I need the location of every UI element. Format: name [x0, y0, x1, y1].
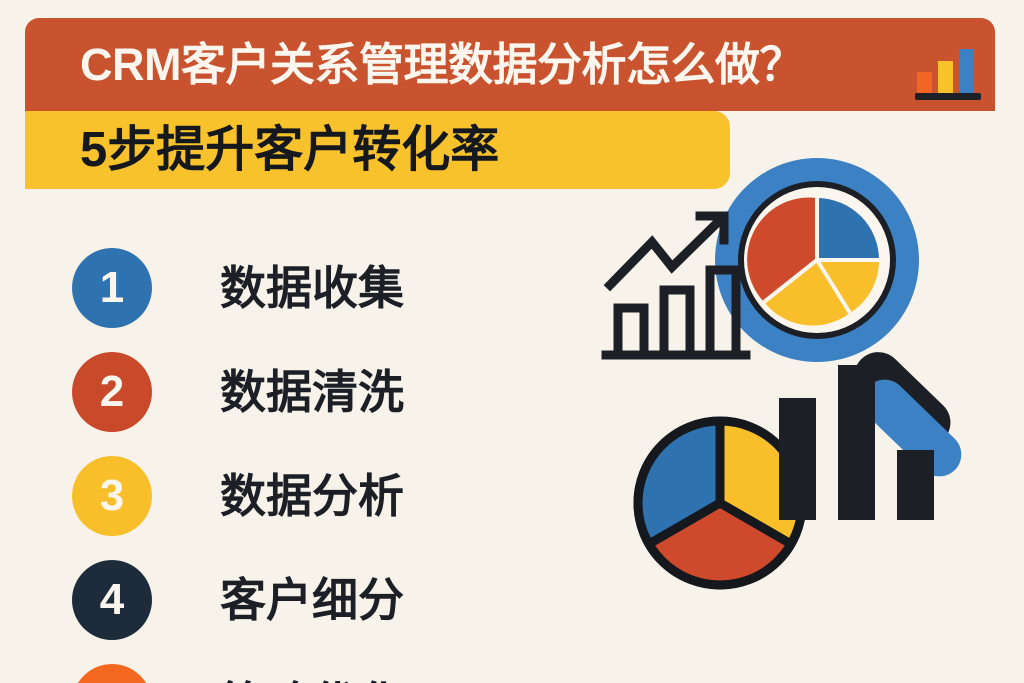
mini-bar-2 — [938, 61, 953, 94]
mini-bar-1 — [917, 72, 932, 94]
pie-chart-icon — [638, 421, 802, 585]
step-number: 4 — [100, 578, 124, 622]
list-item: 2 数据清洗 — [72, 340, 404, 444]
growth-trend-line — [610, 220, 720, 285]
growth-bar-1 — [618, 308, 644, 355]
step-number-badge: 2 — [72, 352, 152, 432]
list-item: 3 数据分析 — [72, 444, 404, 548]
list-item: 4 客户细分 — [72, 548, 404, 652]
step-number-badge: 4 — [72, 560, 152, 640]
step-label: 数据收集 — [220, 265, 404, 311]
steps-list: 1 数据收集 2 数据清洗 3 数据分析 4 客户细分 5 策 — [72, 236, 404, 683]
dark-bar-1 — [779, 398, 816, 520]
page-subtitle: 5步提升客户转化率 — [80, 126, 499, 175]
step-number-badge: 5 — [72, 664, 152, 683]
step-number: 3 — [100, 474, 124, 518]
header-title-banner: CRM客户关系管理数据分析怎么做？ — [25, 18, 995, 111]
mini-bar-baseline — [915, 93, 981, 100]
step-number: 1 — [100, 266, 124, 310]
bar-chart-icon — [915, 52, 983, 100]
list-item: 5 策略优化 — [72, 652, 404, 683]
illustration-svg — [560, 130, 1024, 683]
page-title: CRM客户关系管理数据分析怎么做？ — [80, 42, 804, 87]
infographic-poster: CRM客户关系管理数据分析怎么做？ 5步提升客户转化率 1 数据收集 2 数据清… — [0, 0, 1024, 683]
step-label: 客户细分 — [220, 577, 404, 623]
list-item: 1 数据收集 — [72, 236, 404, 340]
illustration-group — [560, 130, 1024, 683]
dark-bar-2 — [838, 365, 875, 520]
mini-bar-3 — [959, 49, 974, 94]
step-label: 数据清洗 — [220, 369, 404, 415]
step-label: 数据分析 — [220, 473, 404, 519]
step-number-badge: 1 — [72, 248, 152, 328]
step-number: 2 — [100, 370, 124, 414]
dark-bar-3 — [897, 450, 934, 520]
growth-bar-2 — [664, 290, 690, 355]
step-number-badge: 3 — [72, 456, 152, 536]
